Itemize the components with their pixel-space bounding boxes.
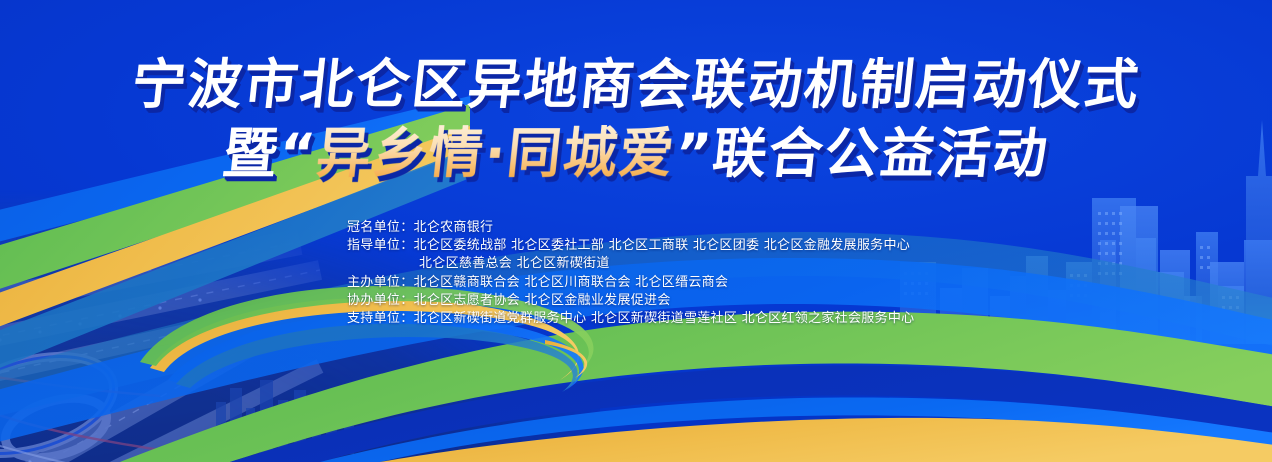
organization-label: 指导单位： — [347, 237, 414, 255]
organization-label: 协办单位： — [347, 292, 414, 310]
organization-row: 支持单位：北仑区新碶街道党群服务中心 北仑区新碶街道雪莲社区 北仑区红领之家社会… — [347, 310, 914, 328]
organization-value: 北仑区慈善总会 北仑区新碶街道 — [419, 256, 610, 271]
organization-label: 支持单位： — [347, 310, 414, 328]
organization-value: 北仑农商银行 — [414, 220, 494, 235]
organization-label: 主办单位： — [347, 274, 414, 292]
organization-label: 冠名单位： — [347, 219, 414, 237]
organization-row: 指导单位：北仑区委统战部 北仑区委社工部 北仑区工商联 北仑区团委 北仑区金融发… — [347, 237, 914, 255]
organization-value: 北仑区志愿者协会 北仑区金融业发展促进会 — [414, 293, 671, 308]
organization-row: 主办单位：北仑区赣商联合会 北仑区川商联合会 北仑区缙云商会 — [347, 274, 914, 292]
organization-list: 冠名单位：北仑农商银行指导单位：北仑区委统战部 北仑区委社工部 北仑区工商联 北… — [347, 219, 914, 328]
organization-value: 北仑区新碶街道党群服务中心 北仑区新碶街道雪莲社区 北仑区红领之家社会服务中心 — [414, 311, 915, 326]
organization-row: 北仑区慈善总会 北仑区新碶街道 — [347, 255, 914, 273]
event-banner: 宁波市北仑区异地商会联动机制启动仪式 暨“异乡情·同城爱”联合公益活动 冠名单位… — [0, 0, 1272, 462]
organization-row: 协办单位：北仑区志愿者协会 北仑区金融业发展促进会 — [347, 292, 914, 310]
organization-value: 北仑区委统战部 北仑区委社工部 北仑区工商联 北仑区团委 北仑区金融发展服务中心 — [414, 238, 911, 253]
organization-row: 冠名单位：北仑农商银行 — [347, 219, 914, 237]
organization-value: 北仑区赣商联合会 北仑区川商联合会 北仑区缙云商会 — [414, 275, 729, 290]
